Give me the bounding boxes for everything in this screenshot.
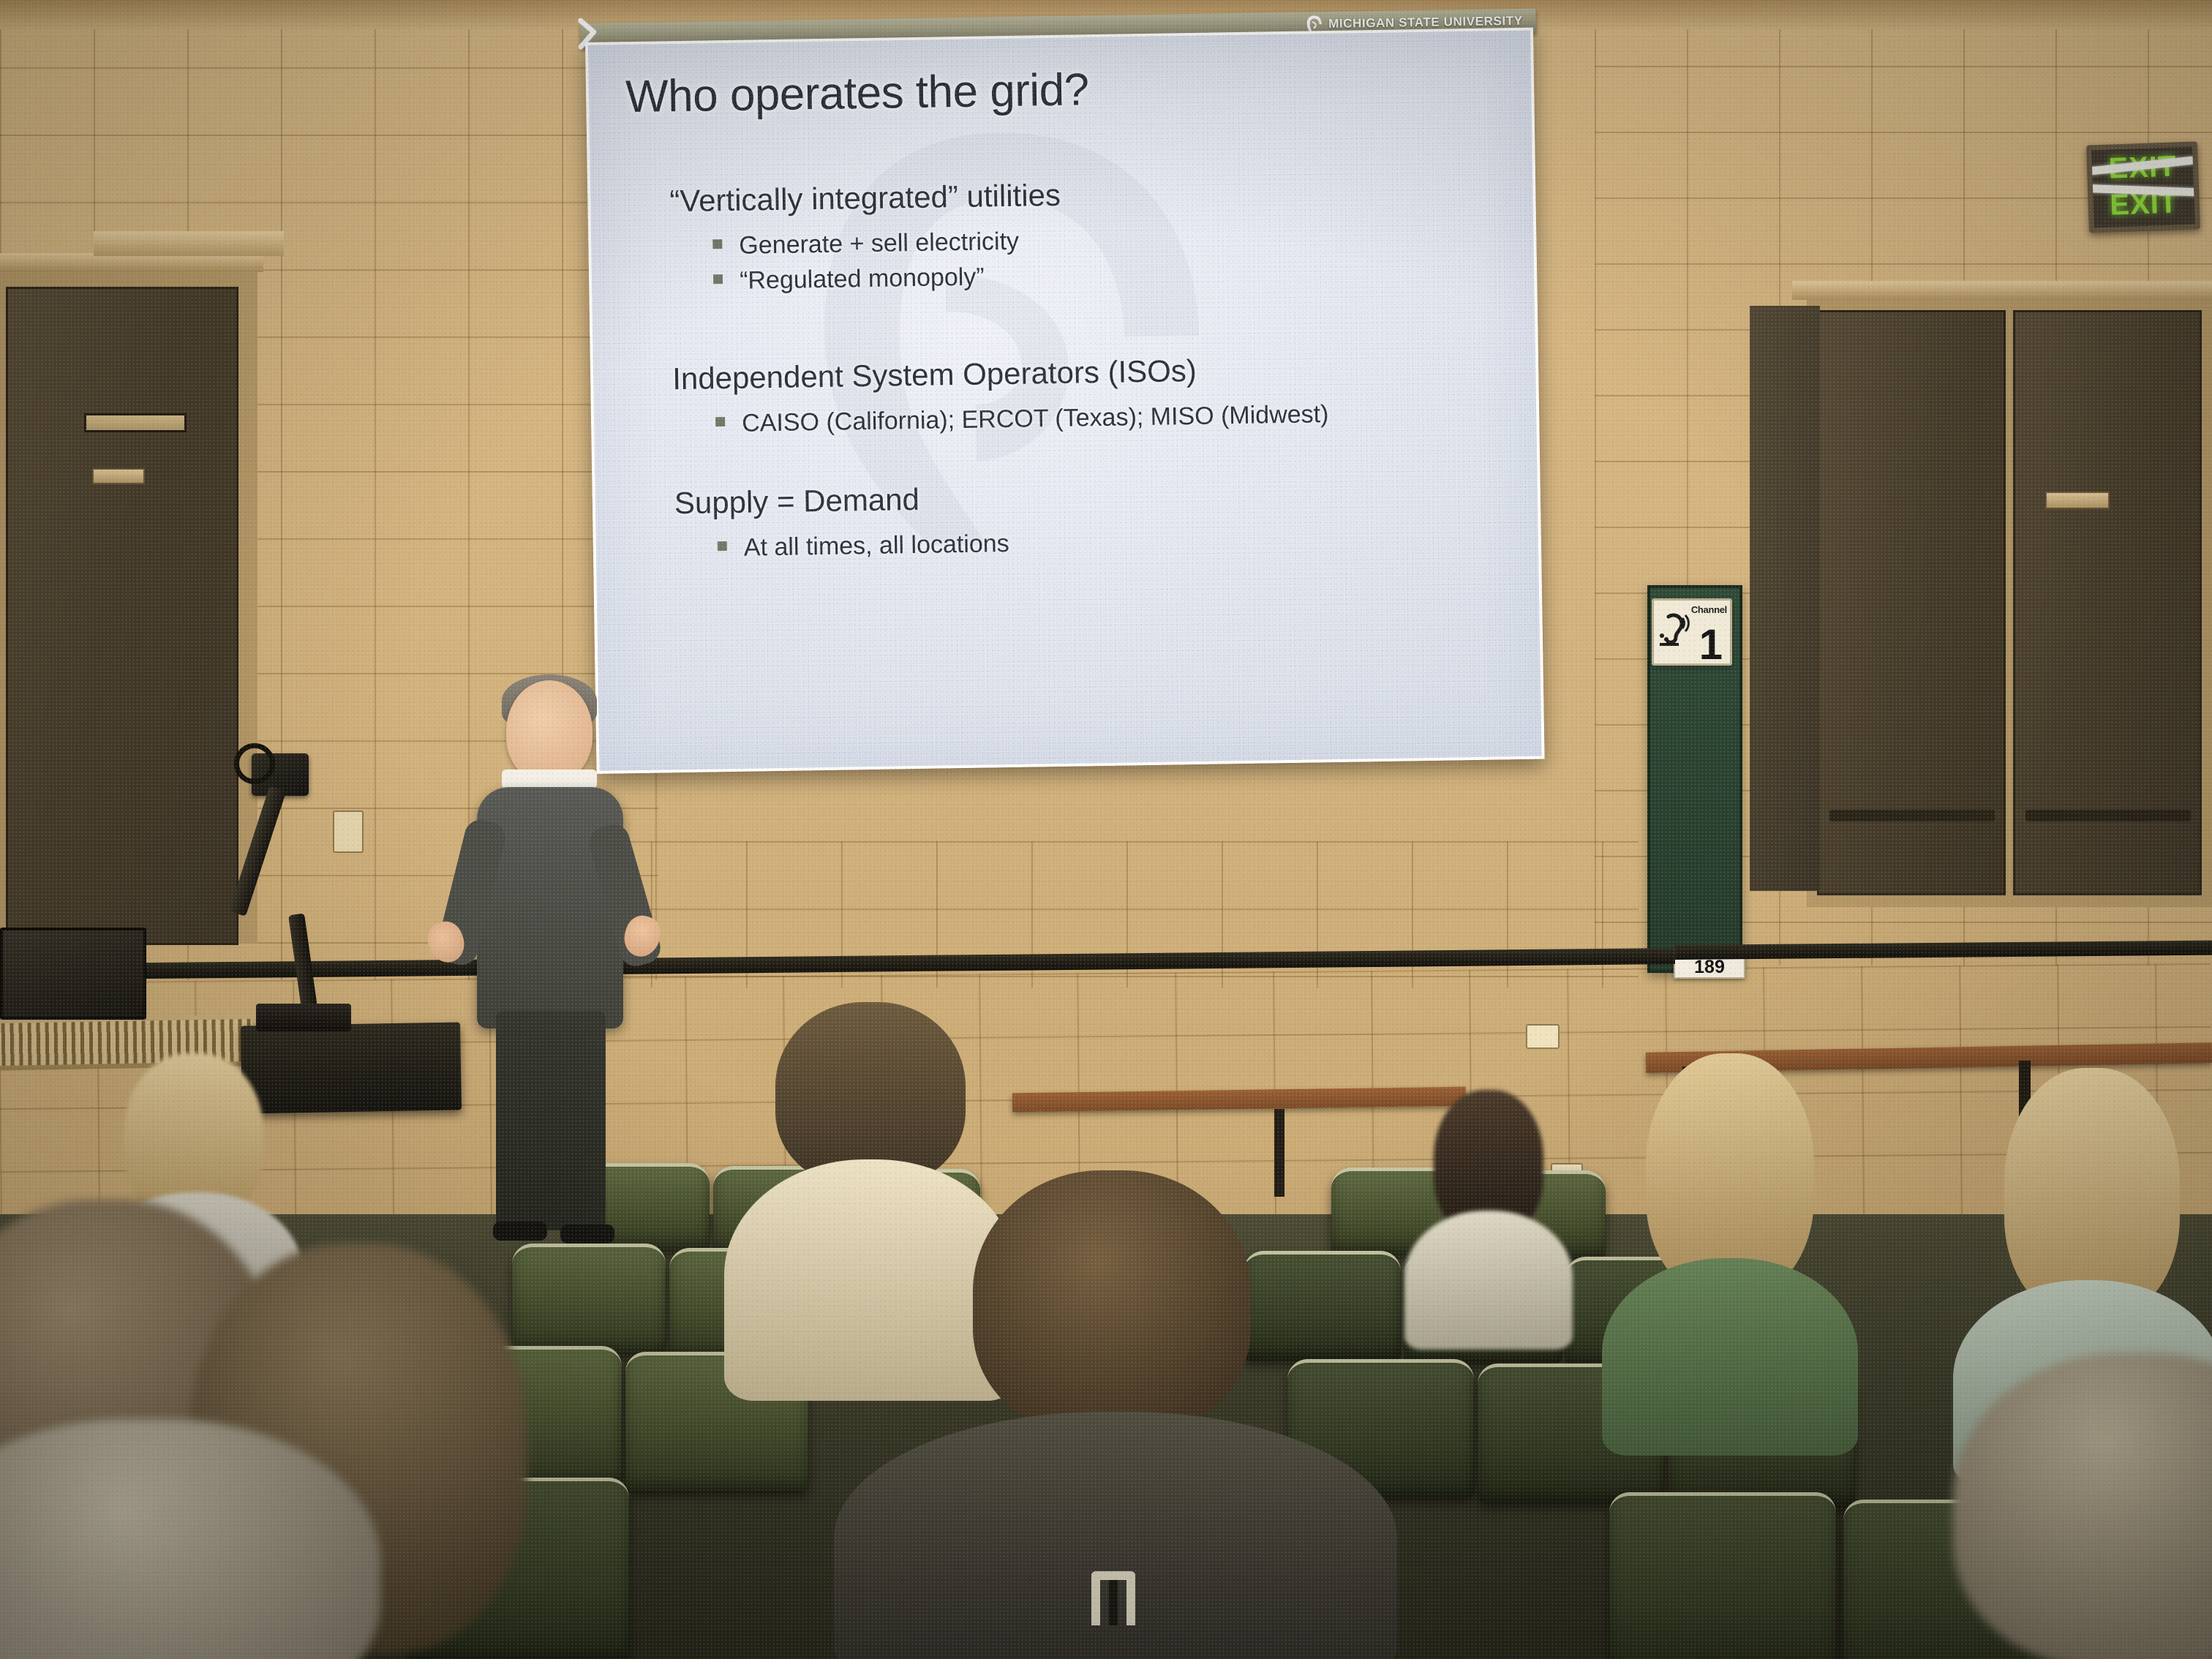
slide-bullet-item: CAISO (California); ERCOT (Texas); MISO …	[714, 394, 1497, 441]
audience-hair	[973, 1170, 1251, 1434]
slide-bullet-text: CAISO (California); ERCOT (Texas); MISO …	[742, 400, 1329, 437]
left-door[interactable]	[6, 287, 238, 945]
presenter-trousers	[496, 1011, 606, 1230]
auditorium-seat[interactable]	[1244, 1251, 1401, 1361]
left-wall-plaque	[92, 468, 145, 484]
av-monitor	[0, 928, 146, 1020]
auditorium-seat[interactable]	[512, 1244, 666, 1353]
slide-heading-3: Supply = Demand	[674, 473, 1499, 521]
slide-bullet-text: Generate + sell electricity	[739, 227, 1019, 260]
hearing-loop-channel-number: 1	[1699, 624, 1723, 666]
slide-heading-1: “Vertically integrated” utilities	[669, 171, 1494, 219]
right-door-header-trim	[1792, 281, 2212, 300]
projection-screen: Who operates the grid? “Vertically integ…	[585, 28, 1545, 774]
auditorium-seat[interactable]	[1609, 1492, 1836, 1659]
room-capacity-number: 189	[1675, 958, 1744, 977]
center-right-dark-panel	[1750, 306, 1820, 891]
slide-bullet-item: At all times, all locations	[716, 518, 1500, 565]
lecture-hall-photo: EXIT EXIT Channel 1 ROOM CAPACITY 189	[0, 0, 2212, 1659]
hearing-loop-channel-label: Channel	[1691, 604, 1727, 615]
audience-torso	[1602, 1258, 1858, 1456]
slide-bullet-text: “Regulated monopoly”	[740, 263, 985, 295]
audience-hair	[775, 1002, 966, 1185]
presenter-head	[506, 680, 592, 783]
back-table-center-leg	[1274, 1109, 1284, 1197]
right-wall-plaque	[2045, 492, 2110, 509]
left-door-window	[84, 413, 187, 432]
camera-mount-base	[256, 1004, 351, 1031]
square-bullet-icon	[718, 541, 727, 551]
audience-torso	[1404, 1211, 1573, 1350]
camera-lens-icon	[234, 743, 275, 784]
slide-bullets-1: Generate + sell electricity “Regulated m…	[711, 217, 1494, 299]
slide-bullet-text: At all times, all locations	[744, 530, 1009, 562]
projection-screen-assembly: MICHIGAN STATE UNIVERSITY Who operates t…	[585, 28, 1545, 774]
presenter-sweater	[477, 787, 623, 1028]
left-upper-panel	[94, 231, 284, 256]
presenter	[439, 680, 658, 1236]
slide-title: Who operates the grid?	[625, 58, 1492, 124]
hearing-loop-sign: Channel 1	[1652, 598, 1732, 666]
square-bullet-icon	[715, 417, 725, 426]
shirt-graphic-stem	[1109, 1580, 1118, 1625]
slide-bullets-2: CAISO (California); ERCOT (Texas); MISO …	[714, 394, 1497, 441]
audience-hair	[2004, 1068, 2180, 1317]
right-door-push-bar-b[interactable]	[2025, 810, 2191, 821]
wall-thermostat	[1526, 1024, 1560, 1049]
slide-content: Who operates the grid? “Vertically integ…	[588, 31, 1541, 771]
slide-bullets-3: At all times, all locations	[716, 518, 1500, 565]
right-door-left-leaf[interactable]	[1817, 310, 2006, 895]
right-door-push-bar-a[interactable]	[1829, 810, 1995, 821]
av-camera-rig	[241, 746, 432, 1083]
exit-sign-housing: EXIT EXIT	[2086, 141, 2200, 233]
presenter-shoe-right	[560, 1224, 614, 1244]
right-door-right-leaf[interactable]	[2013, 310, 2202, 895]
exit-sign: EXIT EXIT	[2086, 141, 2200, 233]
wall-outlet-a	[333, 810, 364, 853]
ear-assistive-listening-icon	[1658, 612, 1690, 646]
camera-arm-lower	[288, 913, 317, 1009]
slide-heading-2: Independent System Operators (ISOs)	[672, 348, 1497, 396]
square-bullet-icon	[712, 239, 722, 249]
presenter-shoe-left	[493, 1222, 547, 1241]
square-bullet-icon	[713, 274, 723, 284]
